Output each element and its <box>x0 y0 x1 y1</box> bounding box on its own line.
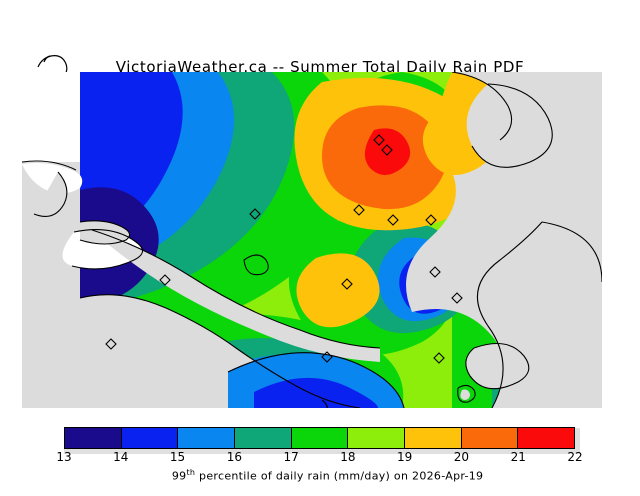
colorbar-swatch[interactable] <box>462 428 519 448</box>
weather-map-page: VictoriaWeather.ca -- Summer Total Daily… <box>0 0 640 480</box>
colorbar[interactable]: 13141516171819202122 <box>60 424 580 454</box>
colorbar-swatch[interactable] <box>65 428 122 448</box>
colorbar-swatch[interactable] <box>518 428 574 448</box>
colorbar-swatch[interactable] <box>235 428 292 448</box>
colorbar-swatch[interactable] <box>348 428 405 448</box>
colorbar-swatch[interactable] <box>292 428 349 448</box>
caption-suffix: percentile of daily rain (mm/day) on 202… <box>195 470 483 483</box>
colorbar-bands[interactable] <box>64 427 575 449</box>
colorbar-swatch[interactable] <box>405 428 462 448</box>
colorbar-swatch[interactable] <box>122 428 179 448</box>
caption-superscript: th <box>186 468 195 477</box>
map-panel[interactable] <box>22 72 602 408</box>
colorbar-caption: 99th percentile of daily rain (mm/day) o… <box>0 455 640 496</box>
colorbar-swatch[interactable] <box>178 428 235 448</box>
caption-prefix: 99 <box>172 470 187 483</box>
contour-map <box>22 72 602 408</box>
